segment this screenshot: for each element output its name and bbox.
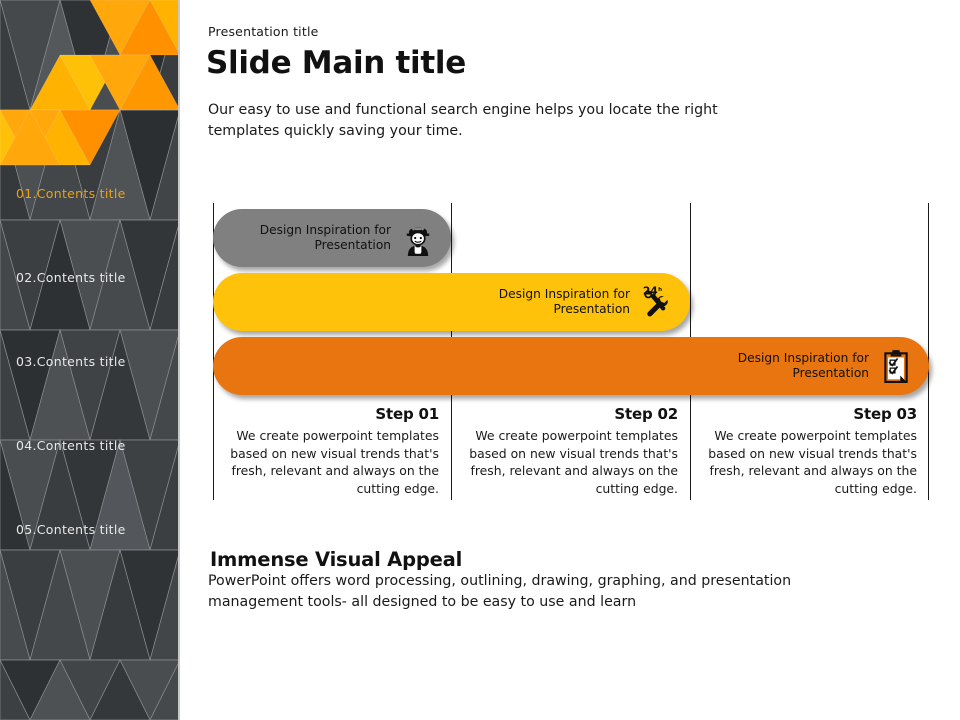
24h-tools-icon: 24 h — [638, 282, 676, 322]
step-2-body: We create powerpoint templates based on … — [452, 427, 678, 497]
step-3-title: Step 03 — [691, 405, 917, 423]
step-column-2: Step 02 We create powerpoint templates b… — [452, 405, 684, 497]
sidebar-item-02[interactable]: 02.Contents title — [16, 270, 176, 285]
sidebar-item-01[interactable]: 01.Contents title — [16, 186, 176, 201]
footer-heading: Immense Visual Appeal — [210, 548, 462, 571]
step-1-title: Step 01 — [213, 405, 439, 423]
step-column-1: Step 01 We create powerpoint templates b… — [213, 405, 445, 497]
process-bar-2[interactable]: Design Inspiration for Presentation 24 h — [213, 273, 690, 331]
step-column-3: Step 03 We create powerpoint templates b… — [691, 405, 923, 497]
sidebar-edge-divider — [178, 0, 180, 720]
footer-body: PowerPoint offers word processing, outli… — [208, 571, 848, 613]
presentation-title-eyebrow: Presentation title — [208, 24, 319, 39]
svg-text:h: h — [658, 287, 662, 293]
page-title: Slide Main title — [206, 45, 466, 81]
step-3-body: We create powerpoint templates based on … — [691, 427, 917, 497]
process-bar-2-label: Design Inspiration for Presentation — [499, 287, 630, 318]
sidebar-item-03[interactable]: 03.Contents title — [16, 354, 176, 369]
clipboard-check-icon — [877, 346, 915, 386]
sidebar: 01.Contents title 02.Contents title 03.C… — [0, 0, 180, 720]
process-bar-1[interactable]: Design Inspiration for Presentation — [213, 209, 451, 267]
step-1-body: We create powerpoint templates based on … — [213, 427, 439, 497]
worker-icon — [399, 218, 437, 258]
process-bar-1-label: Design Inspiration for Presentation — [260, 223, 391, 254]
process-bar-3[interactable]: Design Inspiration for Presentation — [213, 337, 929, 395]
sidebar-item-05[interactable]: 05.Contents title — [16, 522, 176, 537]
sidebar-item-04[interactable]: 04.Contents title — [16, 438, 176, 453]
process-bar-3-label: Design Inspiration for Presentation — [738, 351, 869, 382]
slide-subtitle: Our easy to use and functional search en… — [208, 100, 768, 142]
step-2-title: Step 02 — [452, 405, 678, 423]
column-divider-right — [928, 203, 929, 500]
